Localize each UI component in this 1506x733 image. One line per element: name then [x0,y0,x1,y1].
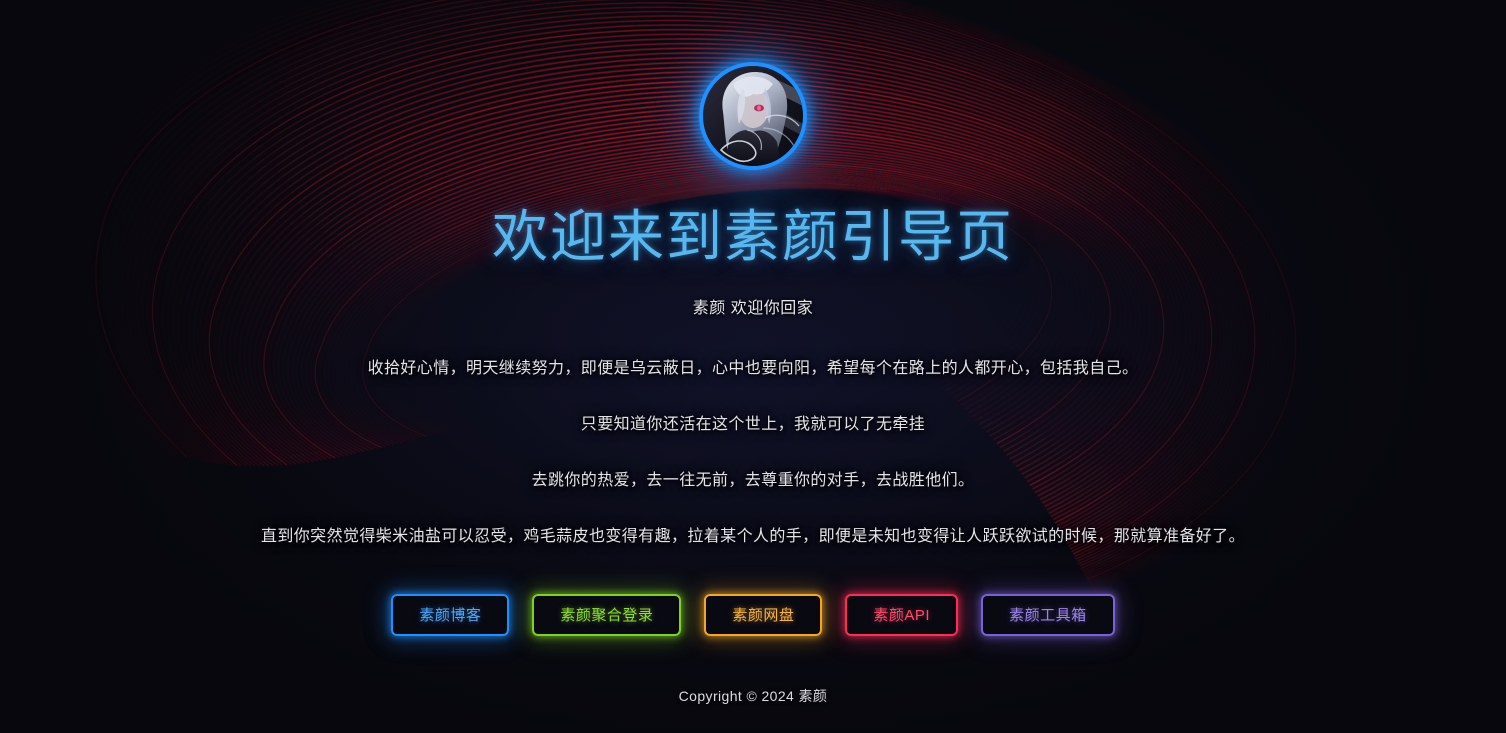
quote-line: 只要知道你还活在这个世上，我就可以了无牵挂 [0,410,1506,434]
page-root: 欢迎来到素颜引导页 素颜 欢迎你回家 收拾好心情，明天继续努力，即便是乌云蔽日，… [0,0,1506,733]
footer-copyright: Copyright © 2024 素颜 [679,686,828,706]
page-content: 欢迎来到素颜引导页 素颜 欢迎你回家 收拾好心情，明天继续努力，即便是乌云蔽日，… [0,0,1506,733]
avatar[interactable] [699,62,807,170]
page-title: 欢迎来到素颜引导页 [492,206,1014,268]
nav-button-api[interactable]: 素颜API [845,594,958,636]
nav-button-row: 素颜博客 素颜聚合登录 素颜网盘 素颜API 素颜工具箱 [391,594,1114,636]
quote-line: 收拾好心情，明天继续努力，即便是乌云蔽日，心中也要向阳，希望每个在路上的人都开心… [0,354,1506,378]
quote-line: 去跳你的热爱，去一往无前，去尊重你的对手，去战胜他们。 [0,466,1506,490]
nav-button-toolbox[interactable]: 素颜工具箱 [981,594,1115,636]
nav-button-netdisk[interactable]: 素颜网盘 [704,594,822,636]
avatar-image [703,66,803,166]
nav-button-blog[interactable]: 素颜博客 [391,594,509,636]
quote-line: 直到你突然觉得柴米油盐可以忍受，鸡毛蒜皮也变得有趣，拉着某个人的手，即便是未知也… [0,522,1506,546]
nav-button-sso[interactable]: 素颜聚合登录 [532,594,681,636]
quote-list: 收拾好心情，明天继续努力，即便是乌云蔽日，心中也要向阳，希望每个在路上的人都开心… [0,322,1506,546]
welcome-text: 素颜 欢迎你回家 [693,294,813,318]
